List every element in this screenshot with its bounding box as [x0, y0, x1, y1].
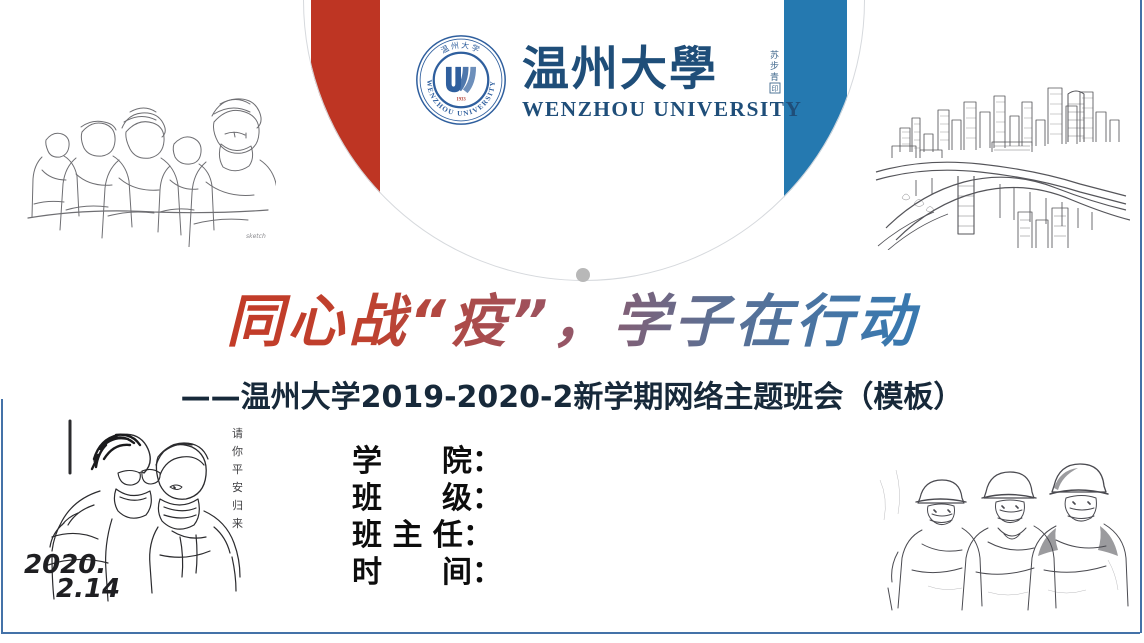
slide-subtitle: ——温州大学2019-2020-2新学期网络主题班会（模板） — [0, 379, 1144, 417]
slide-main-title: 同心战“疫”，学子在行动 — [0, 286, 1144, 358]
medical-staff-sketch: sketch — [18, 92, 276, 247]
construction-workers-sketch — [868, 440, 1130, 615]
sketch-note-char-2: 你 — [232, 445, 243, 458]
svg-text:印: 印 — [772, 85, 779, 93]
slide-frame-left — [1, 399, 3, 633]
sketch-note-char-6: 来 — [232, 517, 243, 530]
sketch-note-char-1: 请 — [232, 427, 243, 440]
sketch-note-char-5: 归 — [232, 498, 243, 512]
city-skyline-sketch — [872, 80, 1130, 250]
svg-text:sketch: sketch — [246, 233, 266, 240]
field-college: 学 院： — [352, 443, 552, 480]
couple-masked-sketch: 请 你 平 安 归 来 2020. 2.14 — [8, 415, 270, 605]
sketch-note-char-4: 安 — [232, 480, 243, 494]
presentation-slide: WENZHOU UNIVERSITY 温州大学 1933 温州大學 苏 — [0, 0, 1144, 643]
svg-text:温州大學: 温州大學 — [522, 42, 718, 96]
university-logo: WENZHOU UNIVERSITY 温州大学 1933 温州大學 苏 — [414, 33, 822, 127]
university-wordmark: 温州大學 苏 步 青 印 WENZHOU UNIVERSITY — [522, 40, 822, 121]
university-seal-icon: WENZHOU UNIVERSITY 温州大学 1933 — [414, 33, 508, 127]
svg-text:1933: 1933 — [456, 98, 466, 103]
wordmark-chinese: 温州大學 苏 步 青 印 — [522, 40, 822, 96]
sketch-note-char-3: 平 — [232, 463, 243, 476]
info-fields: 学 院： 班 级： 班 主 任： 时 间： — [352, 443, 552, 591]
wordmark-english: WENZHOU UNIVERSITY — [522, 99, 822, 121]
svg-text:青: 青 — [770, 71, 779, 83]
arc-dot-marker — [576, 268, 590, 282]
sketch-date-day: 2.14 — [56, 574, 120, 604]
slide-frame-bottom — [1, 632, 1140, 634]
svg-text:苏: 苏 — [770, 49, 779, 61]
svg-text:步: 步 — [770, 61, 779, 72]
field-head-teacher: 班 主 任： — [352, 517, 552, 554]
field-time: 时 间： — [352, 554, 552, 591]
field-class: 班 级： — [352, 480, 552, 517]
